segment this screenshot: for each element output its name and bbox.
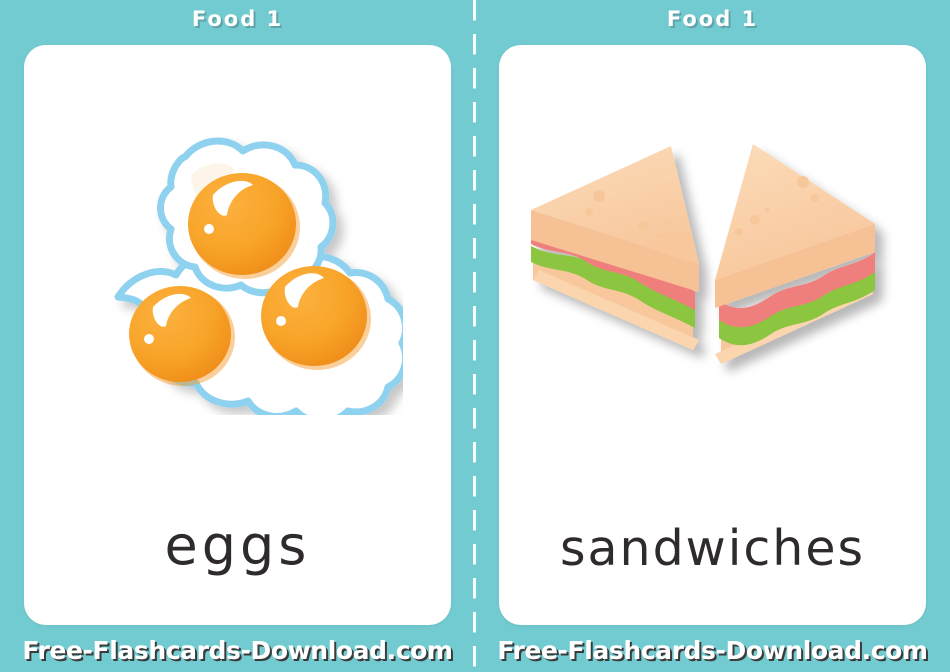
sandwich-half-right	[715, 144, 875, 364]
flashcard-eggs[interactable]: Food 1	[0, 0, 475, 672]
card-header-title: Food 1	[0, 7, 475, 31]
crumb-hole	[797, 176, 809, 188]
crumb-hole	[735, 228, 743, 236]
crumb-hole	[811, 194, 819, 202]
crumb-hole	[656, 233, 662, 239]
yolk-dot	[144, 334, 154, 344]
card-header-title: Food 1	[475, 7, 950, 31]
yolk-dot	[276, 316, 286, 326]
crumb-hole	[764, 208, 769, 213]
sandwich-half-left	[531, 146, 699, 350]
card-word-label: sandwiches	[499, 520, 926, 577]
crumb-hole	[638, 221, 648, 231]
flashcard-sheet: Food 1	[0, 0, 950, 672]
sandwich-illustration	[499, 75, 926, 455]
yolk-dot	[204, 224, 214, 234]
crumb-hole	[593, 190, 605, 202]
watermark-left: Free-Flashcards-Download.com	[0, 636, 475, 665]
crumb-hole	[750, 215, 760, 225]
card-surface[interactable]: sandwiches	[499, 45, 926, 625]
watermark-right: Free-Flashcards-Download.com	[475, 636, 950, 665]
card-surface[interactable]: eggs	[24, 45, 451, 625]
flashcard-sandwiches[interactable]: Food 1	[475, 0, 950, 672]
card-word-label: eggs	[24, 514, 451, 577]
crumb-hole	[666, 222, 671, 227]
crumb-hole	[585, 208, 593, 216]
eggs-illustration	[24, 75, 451, 455]
sandwich-svg	[523, 140, 903, 390]
eggs-svg	[73, 115, 403, 415]
